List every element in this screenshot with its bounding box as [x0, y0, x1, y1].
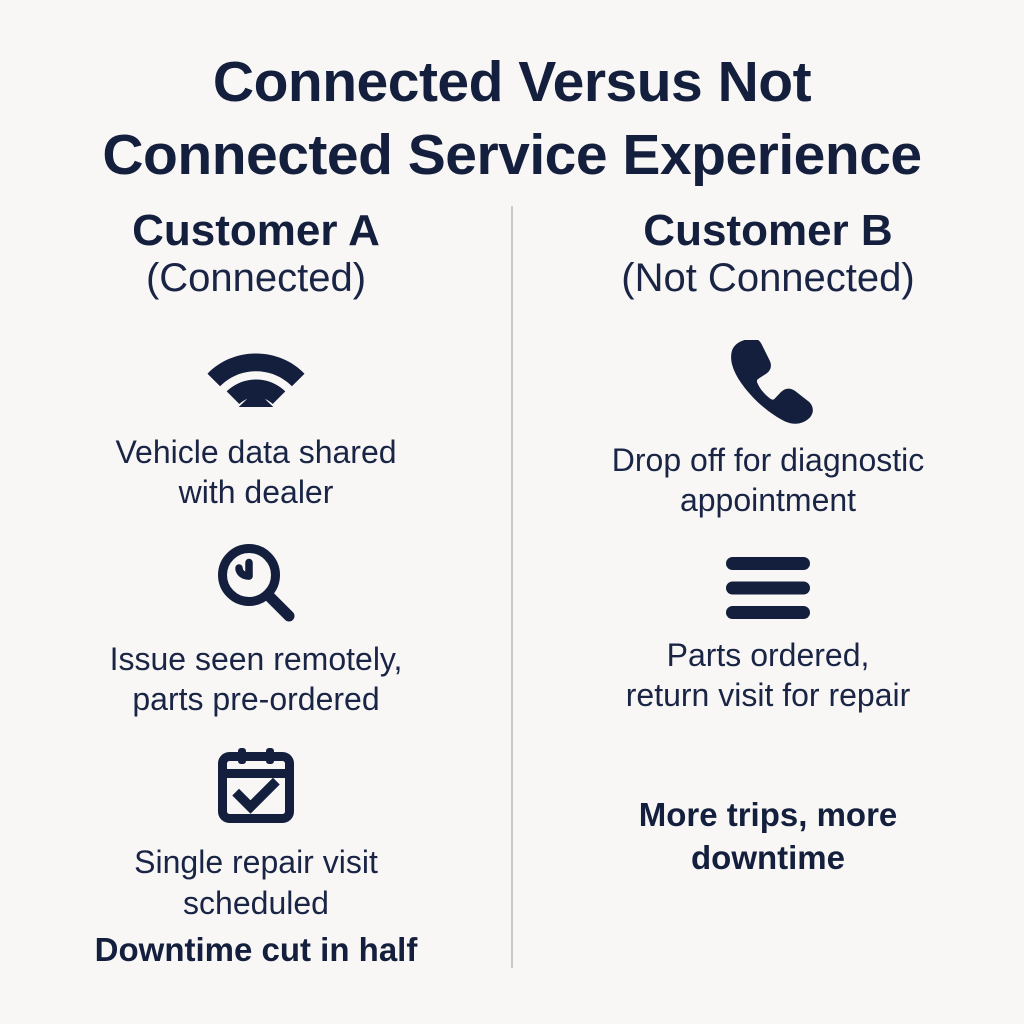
step-text: Drop off for diagnostic appointment — [612, 440, 924, 521]
column-customer-a: Customer A (Connected) Vehicle data shar… — [0, 206, 512, 972]
wifi-icon — [206, 340, 306, 418]
column-customer-b: Customer B (Not Connected) Drop off for … — [512, 206, 1024, 880]
column-status-b: (Not Connected) — [621, 255, 914, 301]
step-item: Vehicle data shared with dealer — [28, 340, 484, 513]
conclusion-customer-a: Downtime cut in half — [95, 929, 418, 972]
step-text: Issue seen remotely, parts pre-ordered — [110, 639, 403, 720]
title-line-2: Connected Service Experience — [42, 119, 982, 192]
step-text: Parts ordered, return visit for repair — [626, 635, 911, 716]
calendar-check-icon — [215, 746, 297, 828]
step-item: Issue seen remotely, parts pre-ordered — [28, 539, 484, 720]
phone-handset-icon — [722, 340, 814, 426]
steps-customer-b: Drop off for diagnostic appointment Part… — [540, 340, 996, 717]
steps-customer-a: Vehicle data shared with dealer Issue se… — [28, 340, 484, 924]
column-heading-customer-b: Customer B (Not Connected) — [621, 206, 914, 302]
step-text: Vehicle data shared with dealer — [115, 432, 396, 513]
column-name-a: Customer A — [132, 206, 380, 255]
column-heading-customer-a: Customer A (Connected) — [132, 206, 380, 302]
column-status-a: (Connected) — [132, 255, 380, 301]
step-item: Parts ordered, return visit for repair — [540, 555, 996, 716]
title-line-1: Connected Versus Not — [42, 46, 982, 119]
comparison-columns: Customer A (Connected) Vehicle data shar… — [0, 192, 1024, 1024]
conclusion-customer-b: More trips, more downtime — [639, 794, 898, 880]
step-text: Single repair visit scheduled — [134, 842, 378, 923]
column-divider — [511, 206, 513, 968]
step-item: Single repair visit scheduled — [28, 746, 484, 923]
column-name-b: Customer B — [621, 206, 914, 255]
magnifier-clock-icon — [213, 539, 299, 625]
infographic-poster: Connected Versus Not Connected Service E… — [0, 0, 1024, 1024]
step-item: Drop off for diagnostic appointment — [540, 340, 996, 521]
list-lines-icon — [724, 555, 812, 621]
page-title: Connected Versus Not Connected Service E… — [0, 0, 1024, 192]
